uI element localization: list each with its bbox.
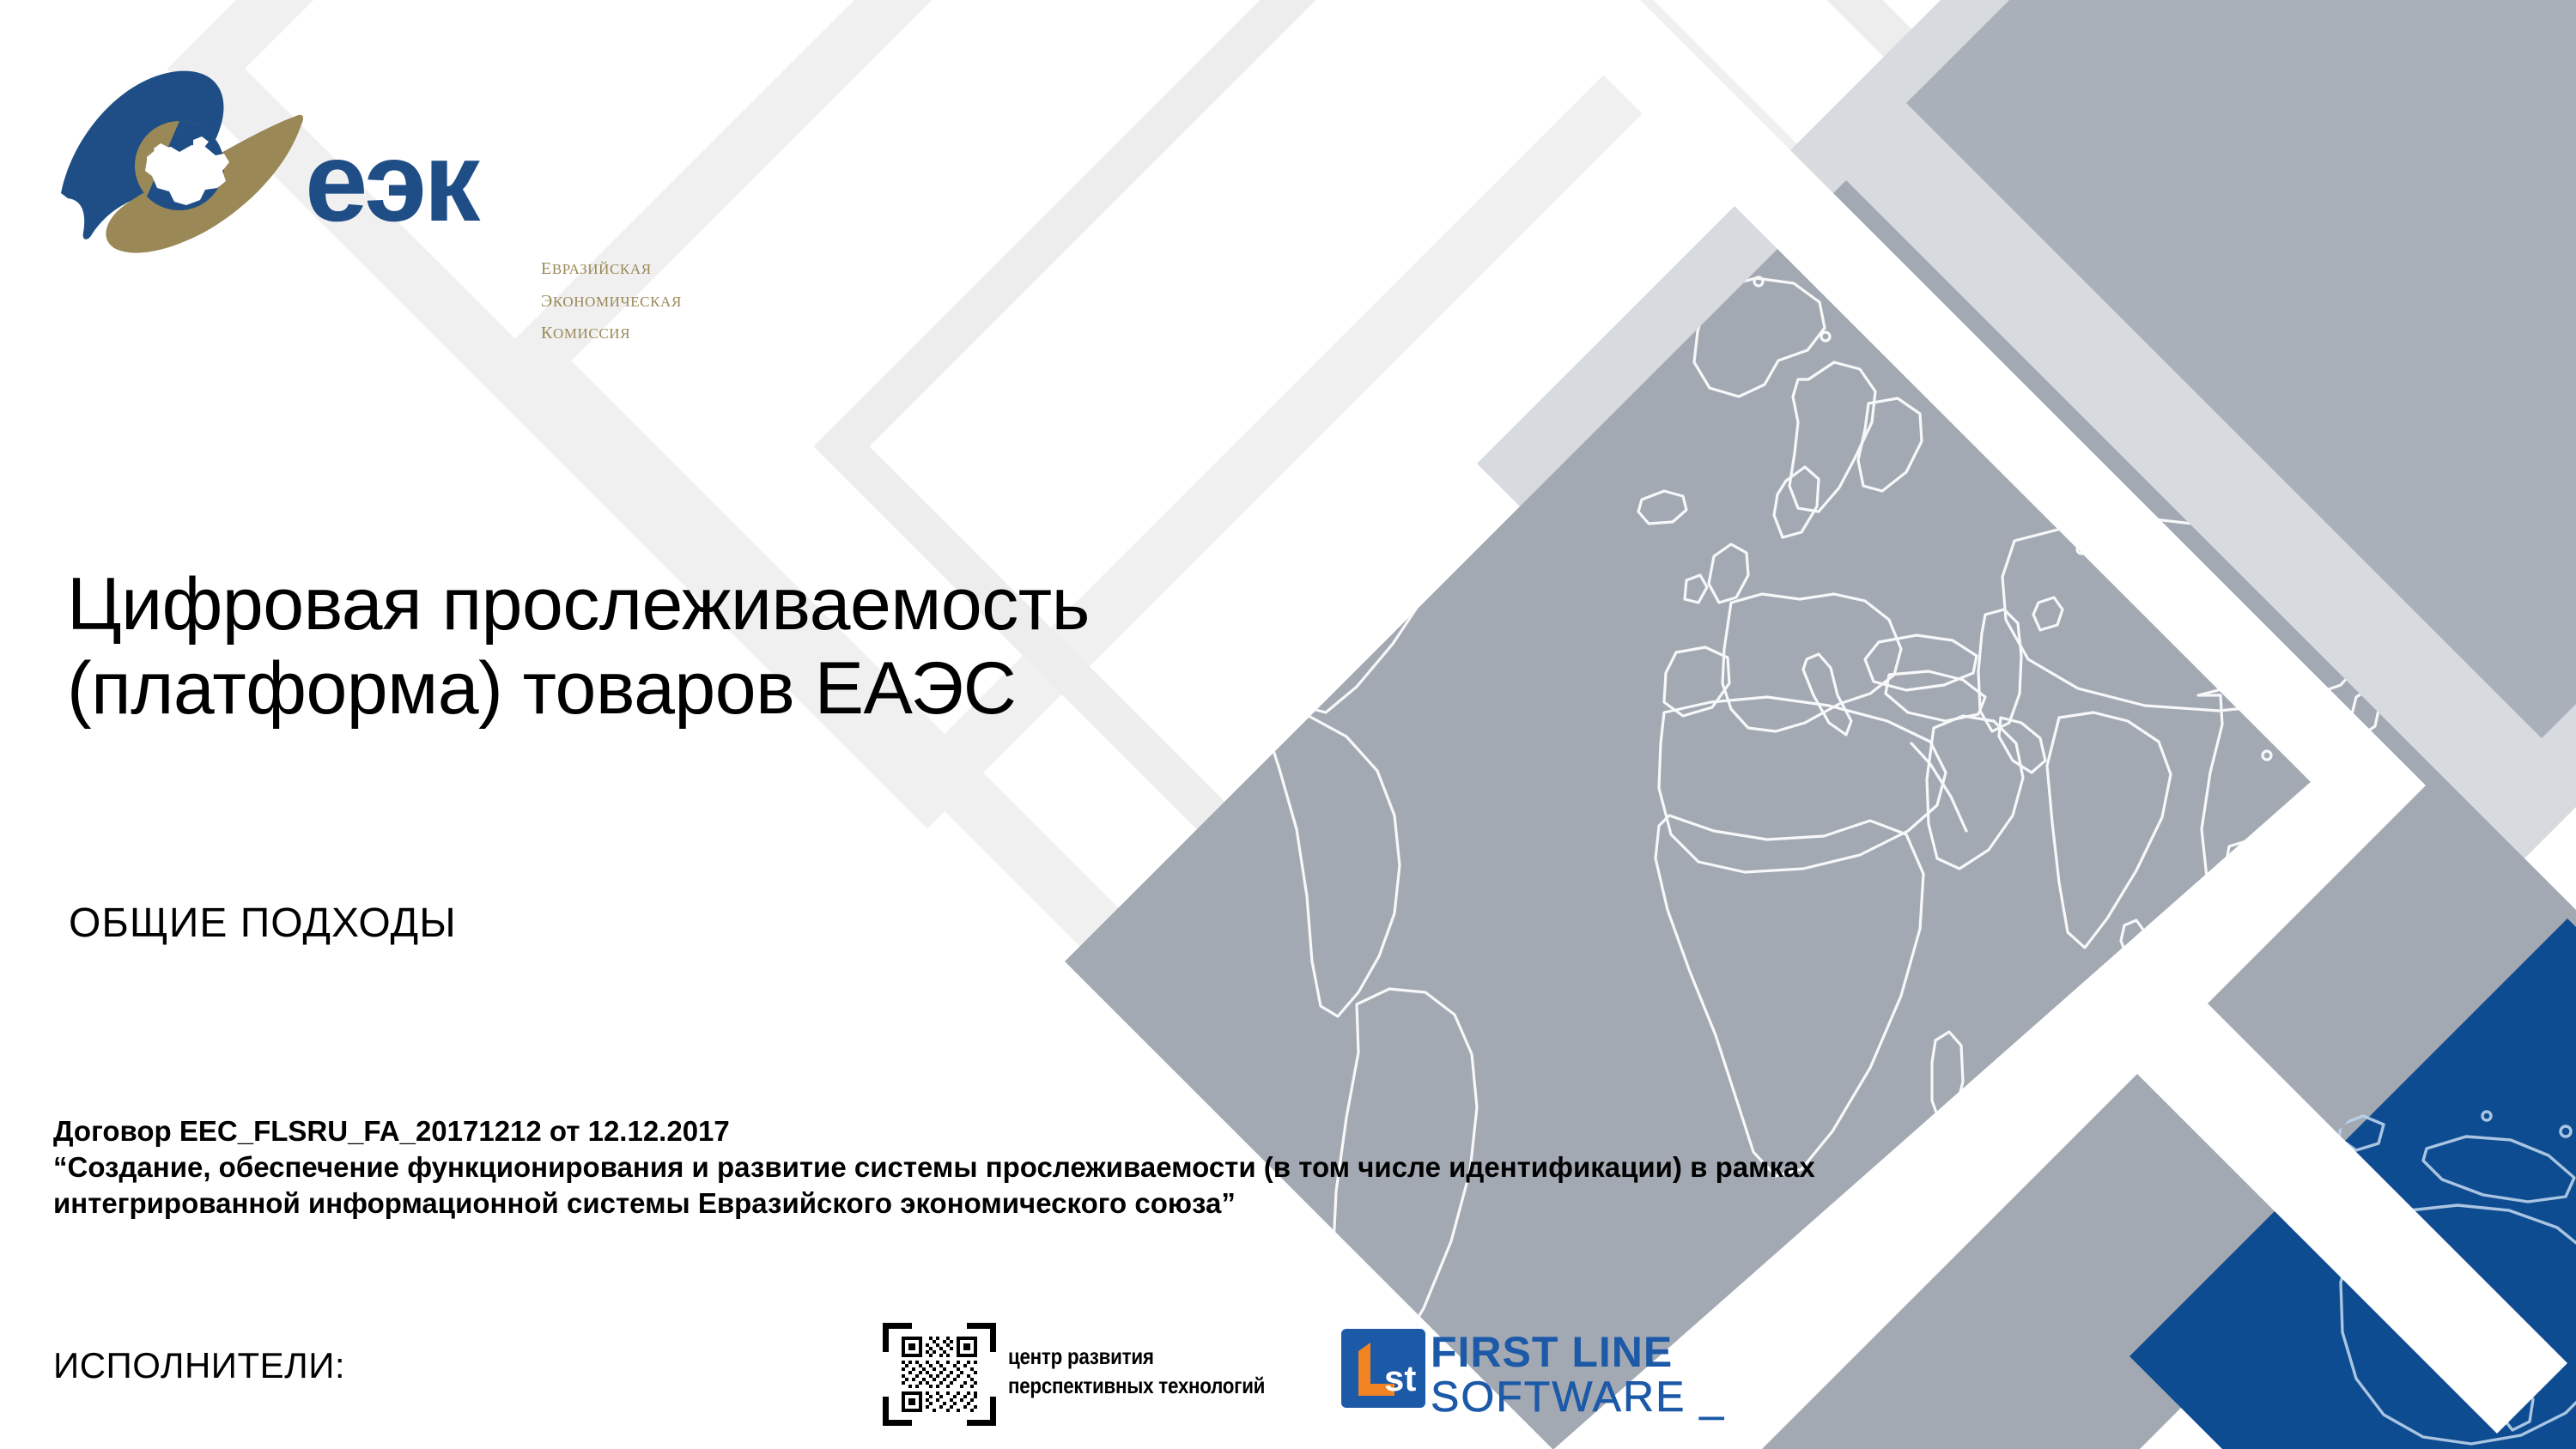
eec-logo: еэк (47, 64, 717, 262)
qr-code-icon (883, 1323, 996, 1426)
eec-sub-line-2: экономическая (541, 283, 764, 316)
svg-text:st: st (1384, 1358, 1416, 1398)
eec-emblem-icon (47, 64, 313, 262)
first-line-software-logo: st FIRST LINE SOFTWARE _ (1341, 1329, 1736, 1430)
crpt-line-1: центр развития (1008, 1342, 1265, 1371)
first-line-software-wordmark: FIRST LINE SOFTWARE _ (1431, 1327, 1736, 1422)
contract-info: Договор EEC_FLSRU_FA_20171212 от 12.12.2… (53, 1113, 2423, 1222)
svg-text:SOFTWARE _: SOFTWARE _ (1431, 1373, 1725, 1421)
contract-line-2: “Создание, обеспечение функционирования … (53, 1149, 2423, 1185)
eec-sub-line-1: Евразийская (541, 251, 764, 283)
crpt-logo-text: центр развития перспективных технологий (1008, 1342, 1265, 1401)
eec-logo-subtitle: Евразийская экономическая комиссия (541, 251, 764, 348)
contract-line-3: интегрированной информационной системы Е… (53, 1185, 2423, 1222)
svg-text:еэк: еэк (305, 124, 481, 245)
slide-title: Цифровая прослеживаемость (платформа) то… (67, 562, 1613, 731)
title-line-1: Цифровая прослеживаемость (67, 562, 1613, 646)
crpt-logo: центр развития перспективных технологий (883, 1323, 1278, 1426)
slide-subtitle: ОБЩИЕ ПОДХОДЫ (69, 900, 457, 947)
eec-sub-line-3: комиссия (541, 315, 764, 348)
svg-text:FIRST LINE: FIRST LINE (1431, 1328, 1673, 1376)
contract-line-1: Договор EEC_FLSRU_FA_20171212 от 12.12.2… (53, 1113, 2423, 1149)
performers-label: ИСПОЛНИТЕЛИ: (53, 1345, 345, 1386)
crpt-line-2: перспективных технологий (1008, 1371, 1265, 1400)
first-line-software-mark-icon: st (1341, 1329, 1425, 1408)
eec-wordmark: еэк (305, 124, 545, 245)
title-line-2: (платформа) товаров ЕАЭС (67, 646, 1613, 731)
presentation-slide: еэк Евразийская экономическая комиссия Ц… (0, 0, 2576, 1449)
